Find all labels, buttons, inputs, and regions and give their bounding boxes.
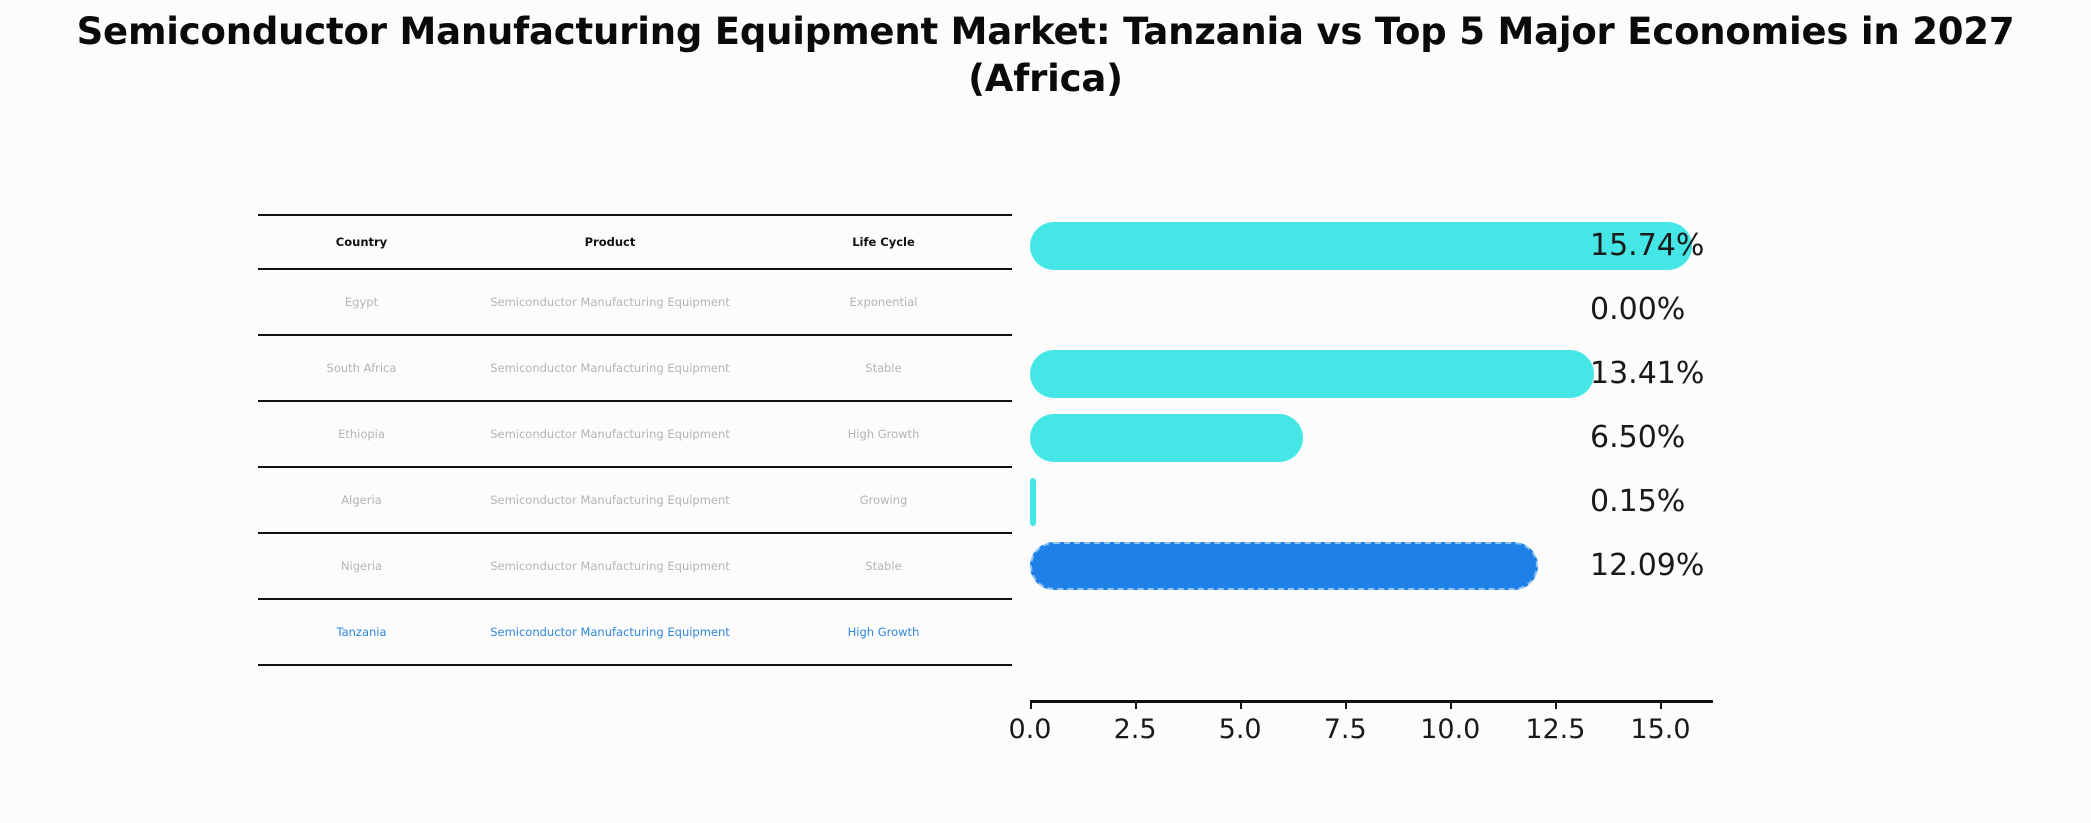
x-axis-tick-label: 5.0: [1219, 714, 1262, 745]
cell-country: Ethiopia: [258, 427, 465, 441]
cell-country: South Africa: [258, 361, 465, 375]
x-axis-tick-label: 2.5: [1114, 714, 1157, 745]
table-row[interactable]: AlgeriaSemiconductor Manufacturing Equip…: [258, 468, 1012, 532]
table-row[interactable]: EgyptSemiconductor Manufacturing Equipme…: [258, 270, 1012, 334]
bar-row: 0.15%: [1030, 470, 1730, 534]
x-axis-tick-label: 12.5: [1525, 714, 1585, 745]
table-row[interactable]: South AfricaSemiconductor Manufacturing …: [258, 336, 1012, 400]
bar-row: 0.00%: [1030, 278, 1730, 342]
bar-value-label: 15.74%: [1590, 231, 1704, 261]
bar-value-label: 6.50%: [1590, 423, 1685, 453]
cell-product: Semiconductor Manufacturing Equipment: [465, 361, 755, 375]
cell-life-cycle: High Growth: [755, 625, 1012, 639]
table-row[interactable]: TanzaniaSemiconductor Manufacturing Equi…: [258, 600, 1012, 664]
x-axis-tick: [1240, 700, 1242, 709]
table-header-row: Country Product Life Cycle: [258, 216, 1012, 268]
bar-chart: 15.74%0.00%13.41%6.50%0.15%12.09%: [1030, 214, 1730, 684]
x-axis-tick-label: 7.5: [1324, 714, 1367, 745]
x-axis-tick-label: 0.0: [1009, 714, 1052, 745]
x-axis-tick: [1660, 700, 1662, 709]
x-axis-tick-label: 15.0: [1630, 714, 1690, 745]
cell-life-cycle: Stable: [755, 361, 1012, 375]
column-header-product: Product: [465, 235, 755, 249]
table-body: EgyptSemiconductor Manufacturing Equipme…: [258, 270, 1012, 666]
bar-row: 12.09%: [1030, 534, 1730, 598]
bar-value-label: 0.15%: [1590, 487, 1685, 517]
column-header-life-cycle: Life Cycle: [755, 235, 1012, 249]
cell-product: Semiconductor Manufacturing Equipment: [465, 493, 755, 507]
cell-product: Semiconductor Manufacturing Equipment: [465, 625, 755, 639]
bar-value-label: 12.09%: [1590, 551, 1704, 581]
bar[interactable]: [1030, 542, 1538, 590]
x-axis-tick: [1450, 700, 1452, 709]
cell-life-cycle: High Growth: [755, 427, 1012, 441]
table-rule: [258, 664, 1012, 666]
table-row[interactable]: EthiopiaSemiconductor Manufacturing Equi…: [258, 402, 1012, 466]
bar[interactable]: [1030, 414, 1303, 462]
x-axis-tick-label: 10.0: [1420, 714, 1480, 745]
page-title: Semiconductor Manufacturing Equipment Ma…: [0, 8, 2091, 103]
cell-product: Semiconductor Manufacturing Equipment: [465, 295, 755, 309]
chart-page: Semiconductor Manufacturing Equipment Ma…: [0, 0, 2091, 823]
cell-life-cycle: Growing: [755, 493, 1012, 507]
cell-country: Nigeria: [258, 559, 465, 573]
bar-row: 6.50%: [1030, 406, 1730, 470]
bar-row: 15.74%: [1030, 214, 1730, 278]
cell-product: Semiconductor Manufacturing Equipment: [465, 427, 755, 441]
x-axis-tick: [1345, 700, 1347, 709]
table-row[interactable]: NigeriaSemiconductor Manufacturing Equip…: [258, 534, 1012, 598]
bar-row: 13.41%: [1030, 342, 1730, 406]
bar[interactable]: [1030, 350, 1594, 398]
cell-life-cycle: Exponential: [755, 295, 1012, 309]
title-line-2: (Africa): [0, 55, 2091, 102]
column-header-country: Country: [258, 235, 465, 249]
cell-product: Semiconductor Manufacturing Equipment: [465, 559, 755, 573]
cell-country: Tanzania: [258, 625, 465, 639]
bar-value-label: 0.00%: [1590, 295, 1685, 325]
bar-value-label: 13.41%: [1590, 359, 1704, 389]
x-axis-tick: [1030, 700, 1032, 709]
cell-life-cycle: Stable: [755, 559, 1012, 573]
x-axis-tick: [1555, 700, 1557, 709]
bar[interactable]: [1030, 478, 1036, 526]
x-axis-line: [1030, 700, 1713, 703]
cell-country: Algeria: [258, 493, 465, 507]
cell-country: Egypt: [258, 295, 465, 309]
data-table: Country Product Life Cycle EgyptSemicond…: [258, 214, 1012, 666]
x-axis-tick: [1135, 700, 1137, 709]
title-line-1: Semiconductor Manufacturing Equipment Ma…: [0, 8, 2091, 55]
